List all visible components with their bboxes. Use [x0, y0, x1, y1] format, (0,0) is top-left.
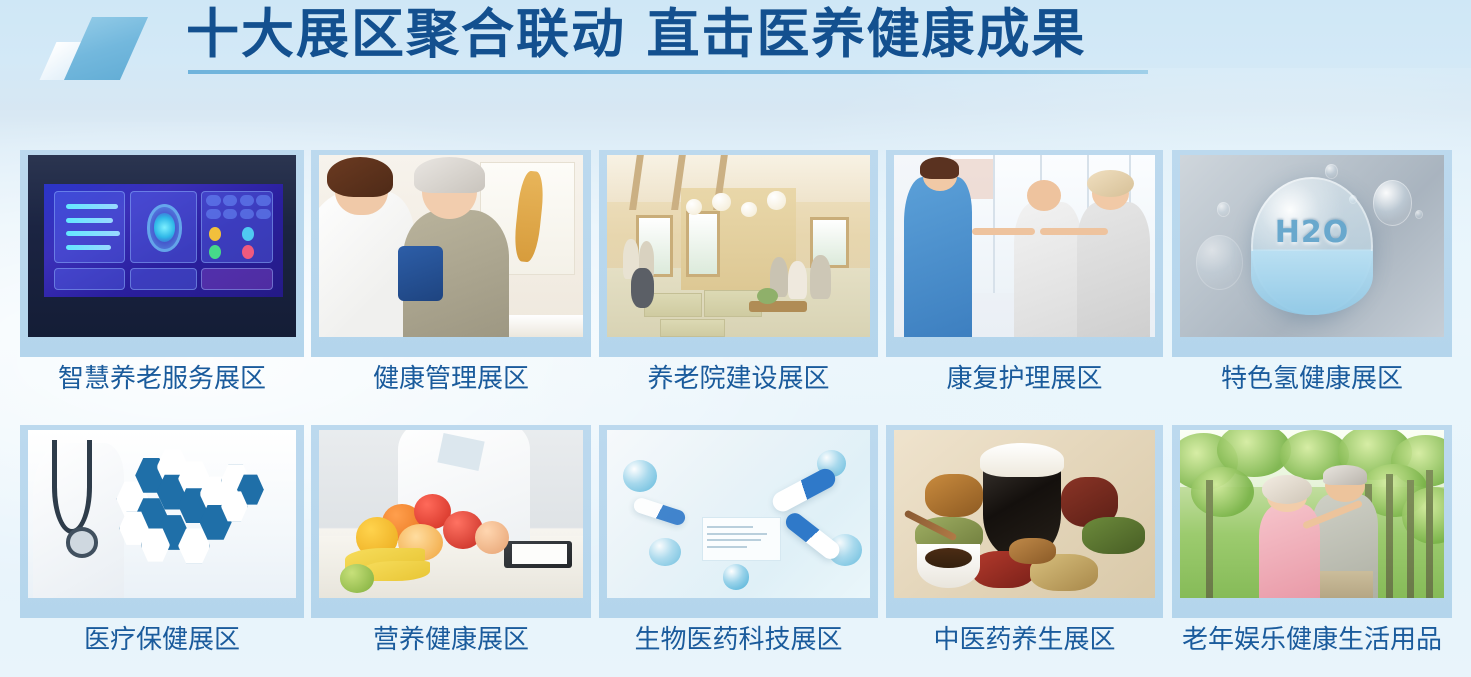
zone-image-rehabilitation-care	[894, 155, 1155, 337]
zone-caption-senior-leisure-goods: 老年娱乐健康生活用品	[1172, 623, 1452, 657]
zone-caption-smart-elderly-care: 智慧养老服务展区	[20, 362, 304, 396]
zone-caption-health-management: 健康管理展区	[311, 362, 591, 396]
zone-card-tcm-wellness[interactable]: 中医药养生展区	[886, 425, 1163, 618]
zone-image-smart-elderly-care	[28, 155, 296, 337]
zone-caption-medical-healthcare: 医疗保健展区	[20, 623, 304, 657]
zone-image-health-management	[319, 155, 583, 337]
zone-caption-hydrogen-health: 特色氢健康展区	[1172, 362, 1452, 396]
zone-card-health-management[interactable]: 健康管理展区	[311, 150, 591, 357]
zone-caption-rehabilitation-care: 康复护理展区	[886, 362, 1163, 396]
zone-card-senior-leisure-goods[interactable]: 老年娱乐健康生活用品	[1172, 425, 1452, 618]
zone-caption-nursing-home-construction: 养老院建设展区	[599, 362, 878, 396]
zone-card-biopharma-technology[interactable]: 生物医药科技展区	[599, 425, 878, 618]
zone-card-medical-healthcare[interactable]: 医疗保健展区	[20, 425, 304, 618]
zone-caption-nutrition-health: 营养健康展区	[311, 623, 591, 657]
zone-image-hydrogen-health: H2O	[1180, 155, 1444, 337]
zone-image-tcm-wellness	[894, 430, 1155, 598]
zone-image-biopharma-technology	[607, 430, 870, 598]
zone-card-smart-elderly-care[interactable]: 智慧养老服务展区	[20, 150, 304, 357]
zone-card-rehabilitation-care[interactable]: 康复护理展区	[886, 150, 1163, 357]
zone-image-nursing-home-construction	[607, 155, 870, 337]
zone-caption-tcm-wellness: 中医药养生展区	[886, 623, 1163, 657]
exhibition-zone-grid: 智慧养老服务展区 健康管理展区	[0, 0, 1471, 677]
zone-card-nutrition-health[interactable]: 营养健康展区	[311, 425, 591, 618]
h2o-text: H2O	[1270, 215, 1354, 250]
zone-image-nutrition-health	[319, 430, 583, 598]
zone-image-senior-leisure-goods	[1180, 430, 1444, 598]
zone-card-nursing-home-construction[interactable]: 养老院建设展区	[599, 150, 878, 357]
zone-card-hydrogen-health[interactable]: H2O 特色氢健康展区	[1172, 150, 1452, 357]
zone-image-medical-healthcare	[28, 430, 296, 598]
zone-caption-biopharma-technology: 生物医药科技展区	[599, 623, 878, 657]
